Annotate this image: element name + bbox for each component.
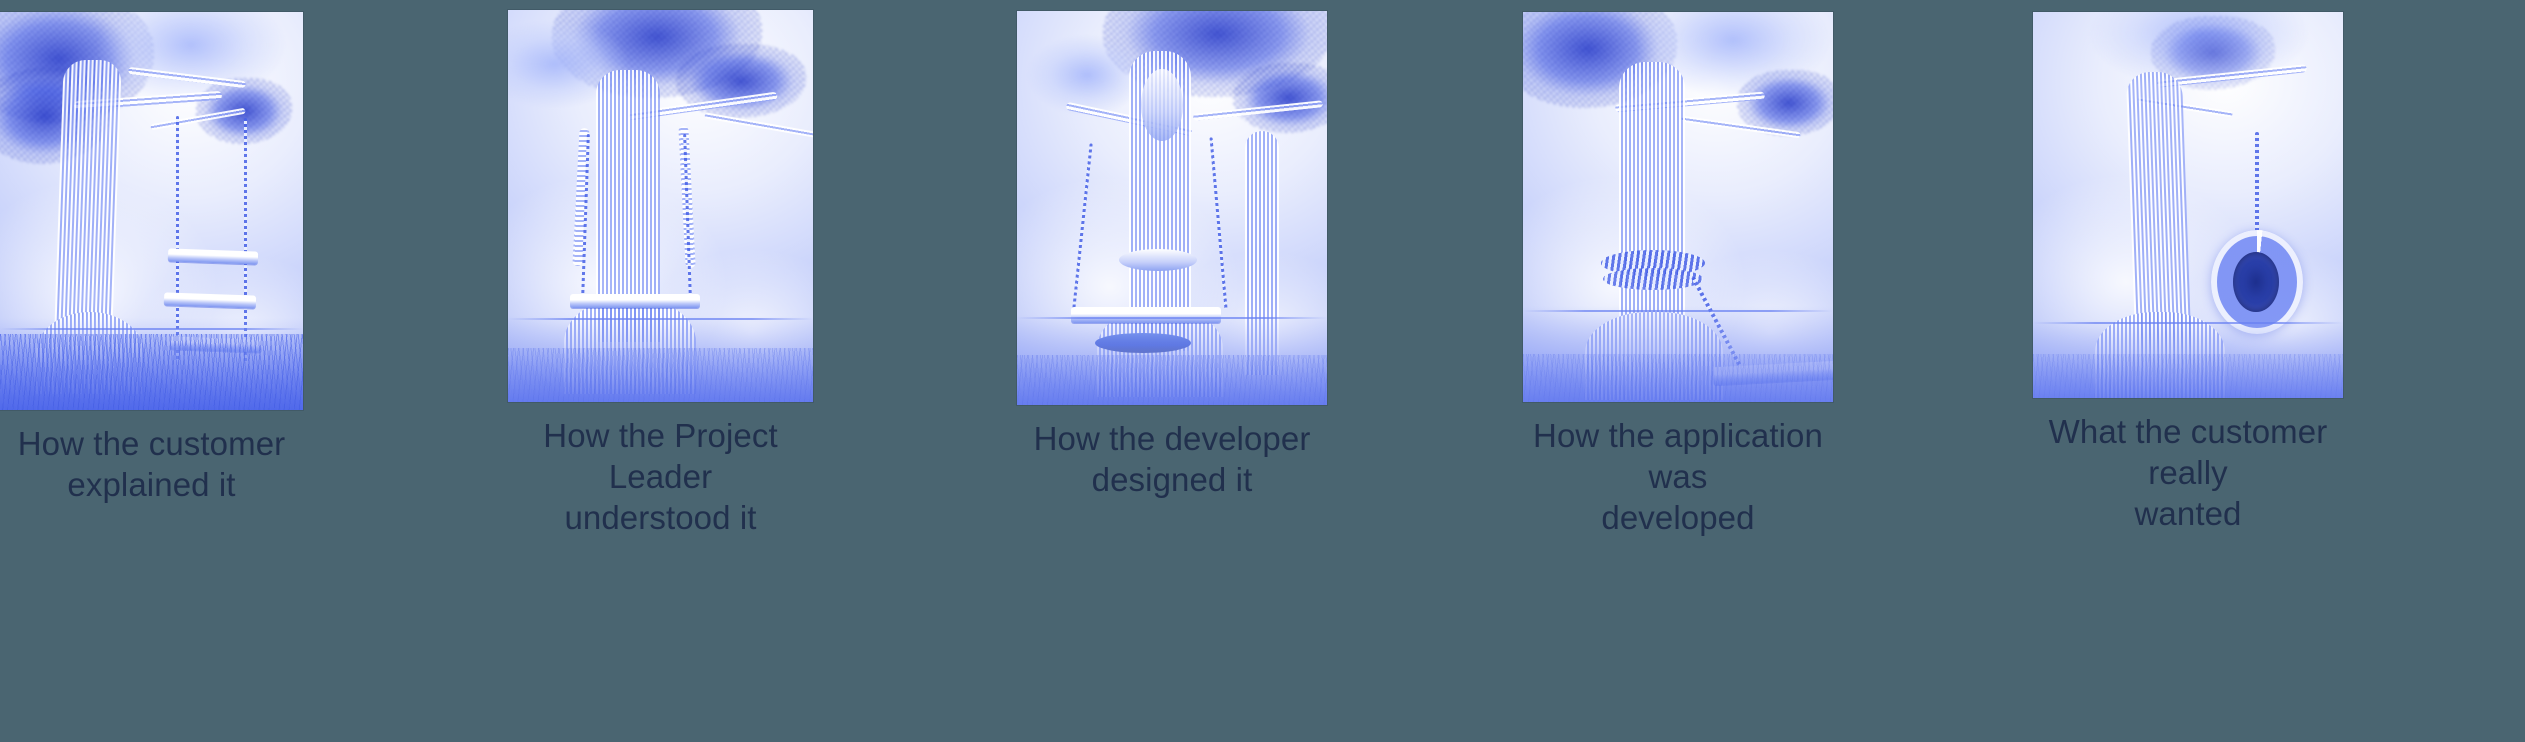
horizon-line bbox=[1523, 310, 1833, 312]
tire-inner-hole bbox=[2233, 252, 2279, 312]
illustration-project-leader-understood bbox=[508, 10, 813, 402]
panel-application-developed[interactable]: How the application was developed bbox=[1523, 0, 1833, 742]
foliage-cluster bbox=[1233, 63, 1327, 133]
caption-line-1: What the customer really bbox=[2049, 413, 2328, 491]
panel-strip: How the customer explained it Ho bbox=[0, 0, 2525, 742]
grass-band bbox=[508, 348, 813, 402]
tire-rope bbox=[2255, 132, 2259, 236]
panel-caption: How the customer explained it bbox=[0, 424, 303, 506]
grass-band bbox=[2033, 354, 2343, 398]
grass-band bbox=[1523, 354, 1833, 402]
illustration-developer-designed bbox=[1017, 11, 1327, 405]
caption-line-1: How the customer bbox=[18, 425, 286, 462]
panel-caption: What the customer really wanted bbox=[2033, 412, 2343, 535]
panel-caption: How the Project Leader understood it bbox=[508, 416, 813, 539]
caption-line-1: How the developer bbox=[1034, 420, 1311, 457]
panel-caption: How the developer designed it bbox=[1017, 419, 1327, 501]
rope-wrap-trunk bbox=[1603, 268, 1703, 290]
grass-band bbox=[1017, 355, 1327, 405]
horizon-line bbox=[1017, 317, 1327, 319]
upper-seat-oval bbox=[1119, 249, 1197, 271]
panel-project-leader-understood[interactable]: How the Project Leader understood it bbox=[508, 0, 813, 742]
panel-customer-really-wanted[interactable]: What the customer really wanted bbox=[2033, 0, 2343, 742]
horizon-line bbox=[2033, 322, 2343, 324]
caption-line-2: explained it bbox=[0, 465, 303, 506]
caption-line-2: understood it bbox=[508, 498, 813, 539]
trunk-hollow bbox=[1141, 69, 1183, 141]
illustration-application-developed bbox=[1523, 12, 1833, 402]
caption-line-1: How the Project Leader bbox=[543, 417, 777, 495]
caption-line-2: wanted bbox=[2033, 494, 2343, 535]
illustration-customer-explained bbox=[0, 12, 303, 410]
caption-line-2: designed it bbox=[1017, 460, 1327, 501]
caption-line-2: developed bbox=[1523, 498, 1833, 539]
caption-line-1: How the application was bbox=[1533, 417, 1823, 495]
swing-seat-plank bbox=[570, 294, 700, 308]
horizon-line bbox=[0, 328, 303, 330]
illustration-customer-really-wanted bbox=[2033, 12, 2343, 398]
horizon-line bbox=[508, 318, 813, 320]
grass-band bbox=[0, 334, 303, 410]
panel-caption: How the application was developed bbox=[1523, 416, 1833, 539]
panel-customer-explained[interactable]: How the customer explained it bbox=[0, 0, 303, 742]
panel-developer-designed[interactable]: How the developer designed it bbox=[1017, 0, 1327, 742]
